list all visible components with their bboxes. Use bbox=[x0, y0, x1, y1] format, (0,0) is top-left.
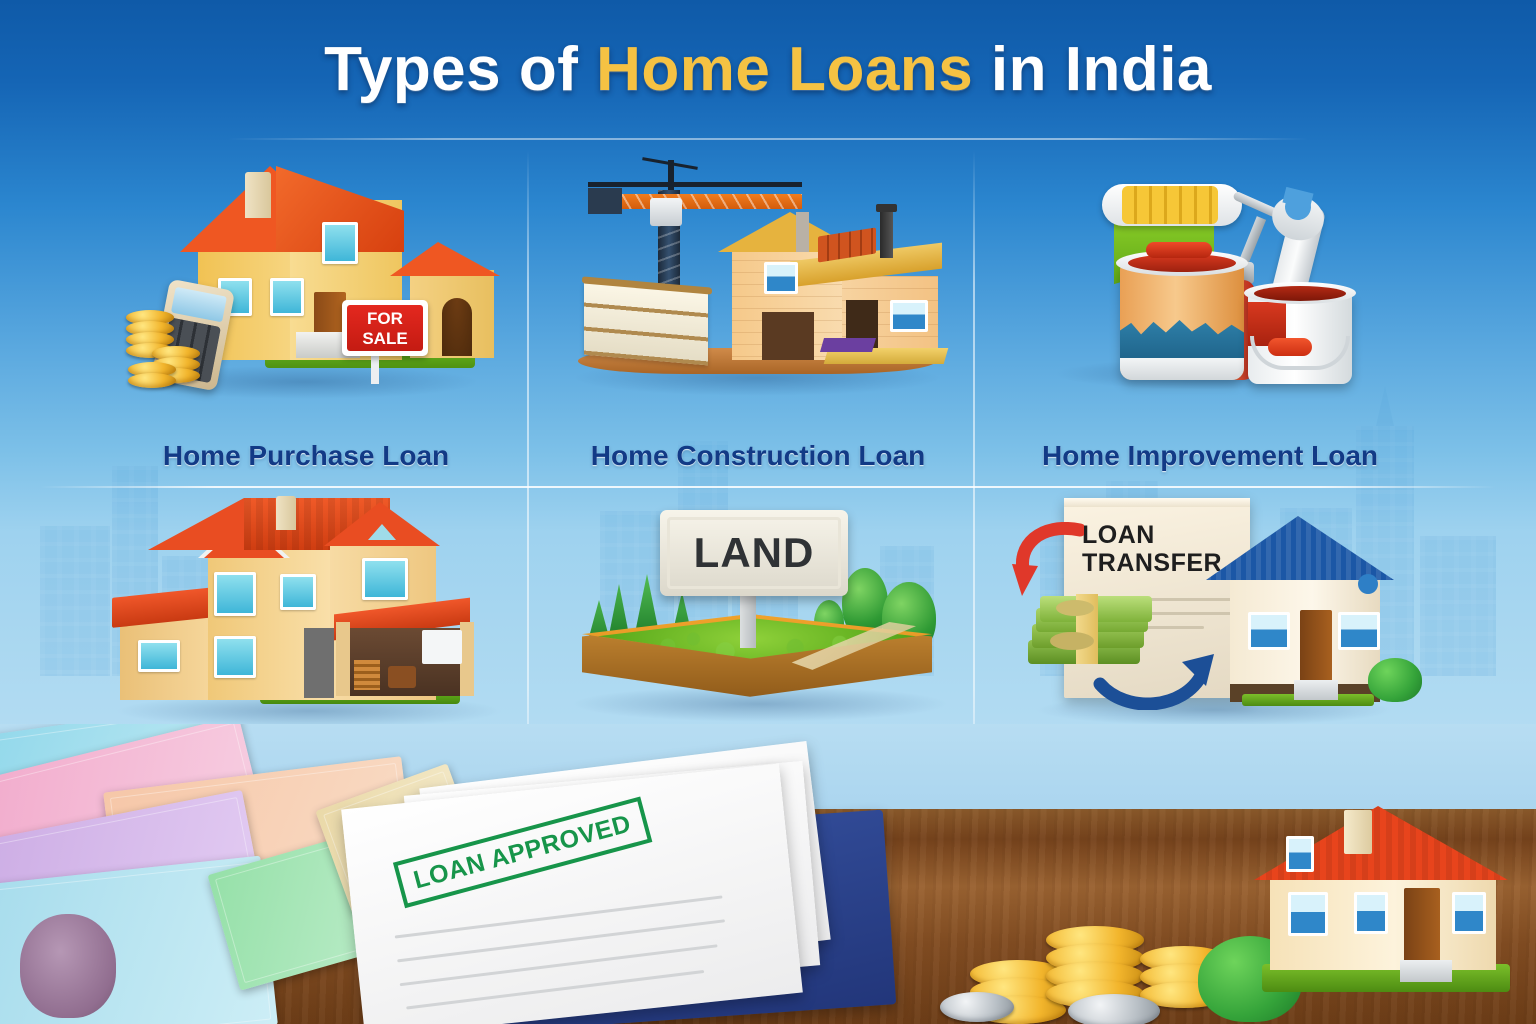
title-part-1: Types of bbox=[324, 35, 596, 104]
infographic-canvas: Types of Home Loans in India bbox=[0, 0, 1536, 1024]
card-home-purchase[interactable]: FOR SALE bbox=[90, 150, 522, 490]
home-improvement-icon bbox=[994, 150, 1426, 400]
card-home-construction[interactable]: Home Construction Loan bbox=[542, 150, 974, 490]
home-extension-icon bbox=[90, 488, 522, 738]
card-label-home-improvement: Home Improvement Loan bbox=[994, 440, 1426, 472]
page-title: Types of Home Loans in India bbox=[0, 34, 1536, 105]
home-construction-icon bbox=[542, 150, 974, 400]
land-plot-icon: LAND bbox=[542, 488, 974, 738]
title-part-2-highlight: Home Loans bbox=[596, 35, 973, 104]
balance-transfer-icon: LOAN TRANSFER bbox=[994, 488, 1426, 738]
card-label-home-construction: Home Construction Loan bbox=[542, 440, 974, 472]
loan-approved-stamp: LOAN APPROVED bbox=[393, 797, 652, 909]
for-sale-line-2: SALE bbox=[362, 330, 407, 347]
title-part-3: in India bbox=[973, 35, 1212, 104]
for-sale-line-1: FOR bbox=[367, 310, 403, 327]
card-label-home-purchase: Home Purchase Loan bbox=[90, 440, 522, 472]
land-sign: LAND bbox=[660, 510, 848, 596]
footer-scene: LOAN APPROVED bbox=[0, 724, 1536, 1024]
red-down-arrow-icon bbox=[1010, 522, 1084, 604]
home-purchase-icon: FOR SALE bbox=[90, 150, 522, 400]
for-sale-sign: FOR SALE bbox=[342, 300, 428, 356]
card-home-improvement[interactable]: Home Improvement Loan bbox=[994, 150, 1426, 490]
title-underline-divider bbox=[228, 138, 1308, 140]
land-sign-text: LAND bbox=[694, 529, 815, 577]
approved-document: LOAN APPROVED bbox=[341, 764, 803, 1024]
